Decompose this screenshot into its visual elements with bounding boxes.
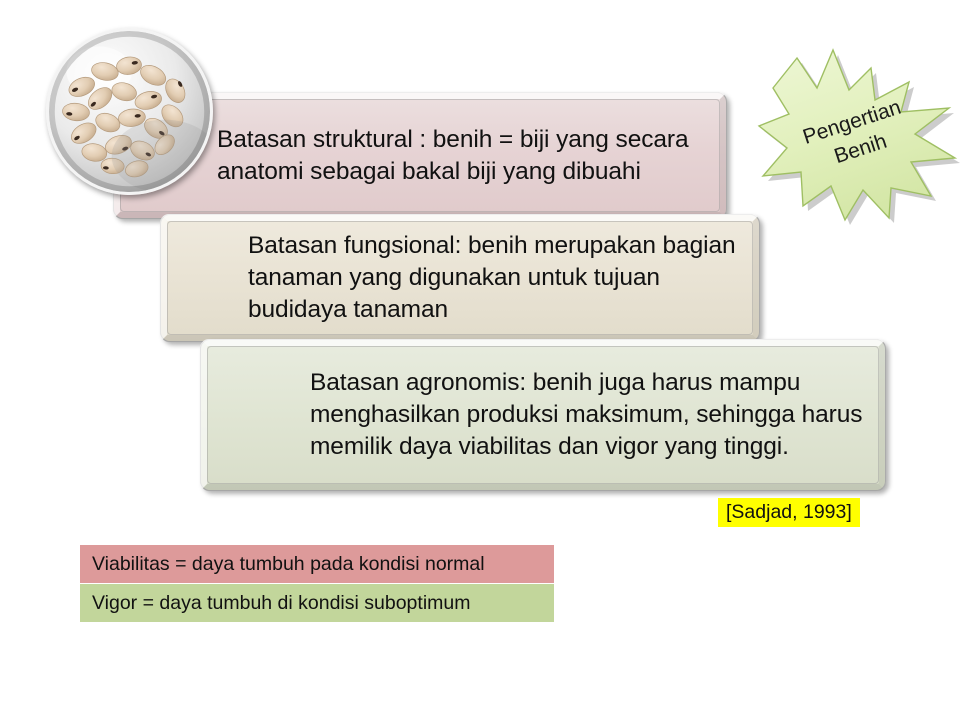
slide-canvas: Batasan struktural : benih = biji yang s…	[0, 0, 960, 720]
callout-functional-text: Batasan fungsional: benih merupakan bagi…	[160, 230, 760, 326]
starburst-badge[interactable]: Pengertian Benih	[756, 44, 956, 220]
callout-agronomic-definition[interactable]: Batasan agronomis: benih juga harus mamp…	[200, 339, 886, 491]
starburst-shape	[759, 50, 955, 220]
callout-functional-definition[interactable]: Batasan fungsional: benih merupakan bagi…	[160, 214, 760, 342]
callout-agronomic-text: Batasan agronomis: benih juga harus mamp…	[200, 367, 886, 463]
definition-bar-viabilitas[interactable]: Viabilitas = daya tumbuh pada kondisi no…	[80, 545, 554, 583]
definition-bar-vigor[interactable]: Vigor = daya tumbuh di kondisi suboptimu…	[80, 584, 554, 622]
cowpea-seeds-photo	[46, 28, 213, 195]
citation-label: [Sadjad, 1993]	[718, 498, 860, 527]
